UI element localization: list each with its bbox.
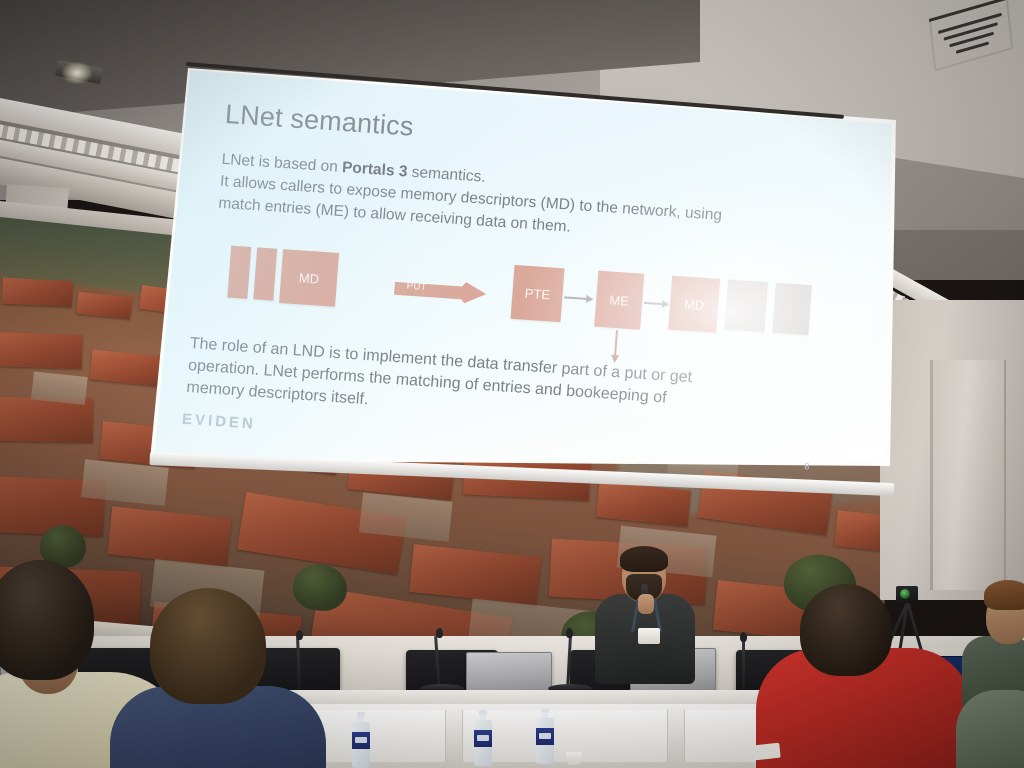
speaker-hand [638, 594, 654, 614]
conference-room-photo: LNet semantics LNet is based on Portals … [0, 0, 1024, 768]
speaker-hair [620, 546, 668, 572]
microphone-head-icon [566, 628, 573, 638]
projection-screen-surface [152, 62, 894, 466]
wall-pilaster [930, 360, 1006, 590]
speaker-arm-right [672, 612, 694, 672]
cup[interactable] [566, 752, 582, 765]
conference-badge [638, 628, 660, 644]
camera-lens-icon [900, 589, 910, 599]
audience-hair [800, 584, 892, 676]
microphone-head-icon [740, 632, 747, 642]
speaker-arm-left [596, 612, 618, 678]
microphone-stem [742, 640, 745, 690]
seat-tag [753, 743, 780, 761]
uplight-glow [62, 62, 92, 84]
audience-member-green-shoulder [956, 690, 1024, 768]
audience-hair [150, 588, 266, 704]
microphone-head-icon [436, 628, 443, 638]
audience-hair [984, 580, 1024, 610]
dais-panel-section [462, 710, 668, 762]
microphone-head-icon [296, 630, 303, 640]
